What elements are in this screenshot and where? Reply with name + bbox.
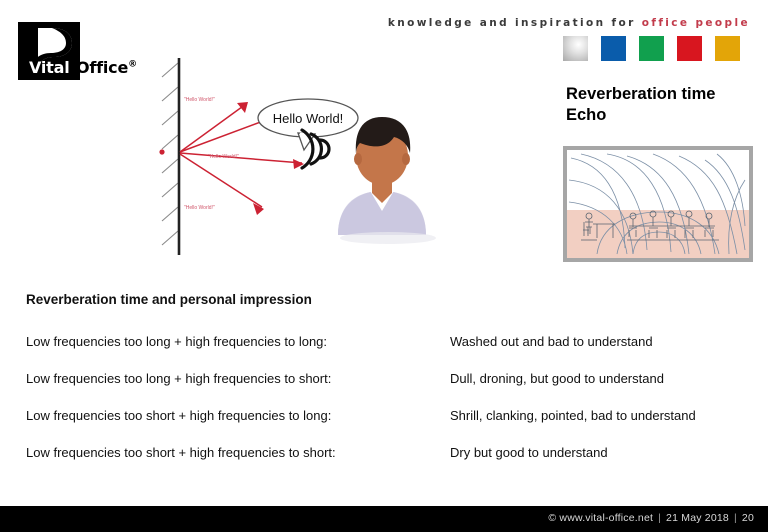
reflection-label-1: "Hello World!" [184, 97, 215, 103]
meeting-room-reverberation-image [563, 146, 753, 262]
reflection-label-2: "Hello World!" [208, 154, 239, 160]
row-condition: Low frequencies too long + high frequenc… [26, 371, 331, 386]
tagline-accent: office people [642, 17, 750, 29]
row-condition: Low frequencies too short + high frequen… [26, 408, 331, 423]
footer-website[interactable]: www.vital-office.net [559, 512, 653, 524]
logo-word-office: -Office [70, 58, 129, 77]
table-row: Low frequencies too long + high frequenc… [0, 334, 768, 371]
reflection-label-3: "Hello World!" [184, 205, 215, 211]
header-tagline: knowledge and inspiration for office peo… [388, 17, 750, 29]
footer-text: © www.vital-office.net|21 May 2018|20 [548, 512, 754, 524]
speech-bubble-text: Hello World! [273, 111, 344, 126]
person-avatar [330, 117, 436, 246]
row-condition: Low frequencies too long + high frequenc… [26, 334, 327, 349]
body-heading: Reverberation time and personal impressi… [26, 292, 312, 307]
speech-bubble: Hello World! [258, 99, 358, 150]
brand-logo: Vital-Office® [18, 22, 86, 84]
footer-separator-2: | [734, 512, 737, 524]
footer-copyright: © [548, 512, 556, 524]
row-condition: Low frequencies too short + high frequen… [26, 445, 336, 460]
footer-page-number: 20 [742, 512, 754, 524]
row-impression: Dry but good to understand [450, 445, 608, 460]
swatch-gold [715, 36, 740, 61]
slide-title: Reverberation time Echo [566, 84, 715, 126]
table-row: Low frequencies too short + high frequen… [0, 445, 768, 482]
brand-color-swatches [563, 36, 740, 61]
footer-date: 21 May 2018 [666, 512, 729, 524]
table-row: Low frequencies too short + high frequen… [0, 408, 768, 445]
wall-hatching [162, 63, 178, 245]
row-impression: Washed out and bad to understand [450, 334, 653, 349]
swatch-blue [601, 36, 626, 61]
sound-source-point [159, 149, 164, 154]
echo-reflection-illustration: "Hello World!" "Hello World!" "Hello Wor… [150, 55, 450, 270]
logo-registered-mark: ® [128, 60, 137, 70]
footer-bar: © www.vital-office.net|21 May 2018|20 [0, 506, 768, 532]
swatch-silver [563, 36, 588, 61]
table-row: Low frequencies too long + high frequenc… [0, 371, 768, 408]
swatch-red [677, 36, 702, 61]
logo-word-vital: Vital [29, 58, 70, 77]
logo-wordmark: Vital-Office® [29, 58, 137, 77]
impression-table: Low frequencies too long + high frequenc… [0, 334, 768, 482]
tagline-plain: knowledge and inspiration for [388, 17, 642, 29]
swatch-green [639, 36, 664, 61]
row-impression: Dull, droning, but good to understand [450, 371, 664, 386]
room-floor-tint [567, 210, 749, 258]
footer-separator-1: | [658, 512, 661, 524]
row-impression: Shrill, clanking, pointed, bad to unders… [450, 408, 696, 423]
